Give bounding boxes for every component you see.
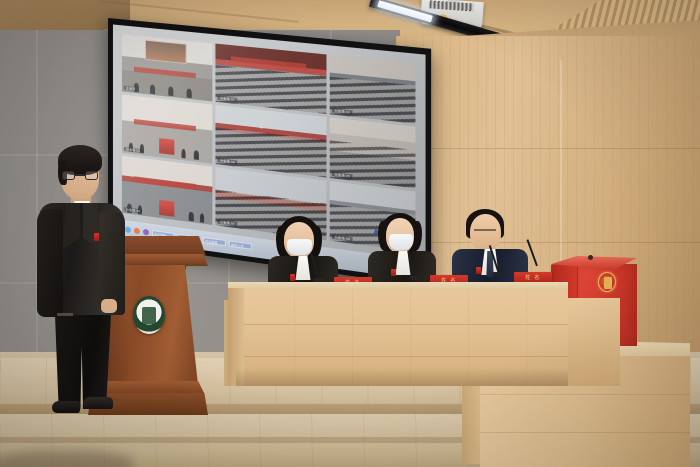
lapel-badge-icon — [476, 267, 481, 274]
tile-people — [122, 189, 213, 225]
face-mask-icon — [389, 234, 413, 250]
belt — [57, 313, 73, 316]
shoe — [83, 397, 113, 409]
table-seam — [236, 324, 568, 325]
vc-tile[interactable]: 分会场 03 — [122, 95, 213, 164]
wall-seam — [396, 242, 700, 243]
head-table — [228, 282, 568, 390]
glasses-bridge — [75, 174, 85, 176]
microphone-base — [410, 276, 420, 280]
shoe — [52, 401, 80, 413]
pedestal-seam — [480, 432, 690, 433]
tile-inner-screen — [145, 40, 187, 64]
pedestal-seam — [480, 394, 690, 395]
national-emblem-icon — [598, 272, 616, 292]
university-emblem-icon — [133, 296, 165, 334]
microphone-base — [492, 272, 502, 276]
eyeglasses-icon — [62, 171, 98, 181]
vc-tile[interactable]: 分会场 01 — [216, 43, 327, 114]
tile-banner — [134, 177, 196, 190]
lapel-badge-icon — [290, 274, 295, 281]
speaker-person[interactable] — [33, 143, 129, 418]
face — [470, 214, 501, 251]
vc-tile[interactable]: 主会场 — [122, 34, 213, 102]
arm — [99, 211, 125, 311]
legs — [51, 311, 115, 409]
lens — [85, 171, 98, 180]
taskbar-button[interactable]: 参会人员 — [229, 241, 252, 250]
ballot-box-latch-icon — [588, 255, 593, 260]
hand — [101, 299, 117, 313]
lapel-badge-icon — [391, 269, 396, 276]
vc-tile[interactable]: 分会场 05 — [330, 118, 416, 189]
emblem-inner — [604, 277, 612, 289]
eyes — [474, 229, 496, 231]
tile-audience — [330, 140, 416, 188]
tile-banner — [134, 119, 196, 131]
photo-scene: 主会场 分会场 01 分会场 02 — [0, 0, 700, 467]
foreground-shadow — [0, 450, 134, 467]
vc-tile[interactable]: ◎ 分会场 04 — [216, 105, 327, 177]
arm — [37, 209, 63, 317]
table-shadow — [236, 368, 568, 386]
panelist-seat-2[interactable] — [368, 213, 436, 293]
tile-audience — [330, 77, 416, 124]
app-icon[interactable] — [134, 228, 140, 235]
face-mask-icon — [287, 239, 312, 255]
emblem-inner — [142, 307, 156, 324]
lens — [62, 171, 75, 180]
projector-vent — [429, 0, 473, 11]
tile-watermark: ◎ — [260, 125, 263, 129]
vc-tile[interactable]: 分会场 02 — [330, 54, 416, 124]
wall-seam — [396, 148, 700, 149]
table-seam — [236, 356, 568, 357]
vc-tile[interactable]: 分会场 06 — [122, 155, 213, 225]
